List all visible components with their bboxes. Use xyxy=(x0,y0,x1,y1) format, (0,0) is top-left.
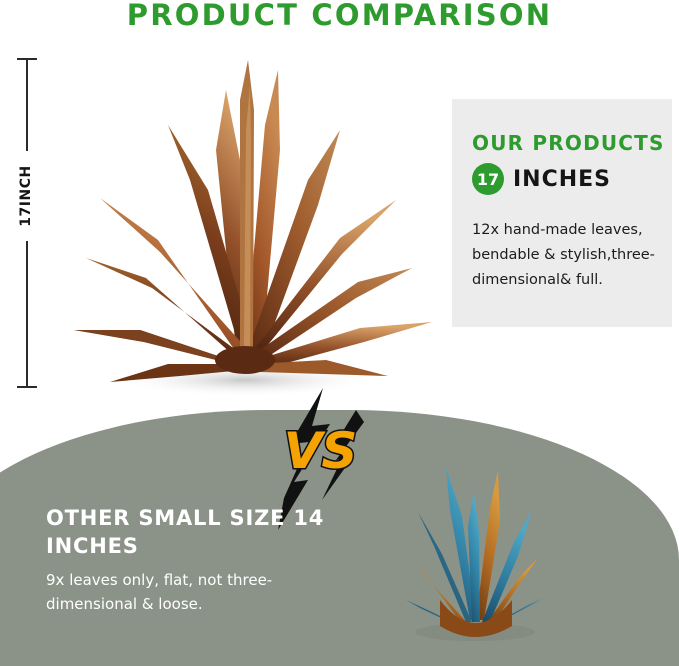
our-products-card: OUR PRODUCTS 17 INCHES 12x hand-made lea… xyxy=(452,99,672,327)
agave-small-illustration xyxy=(380,450,570,650)
agave-large-illustration xyxy=(40,30,460,405)
vs-label: VS xyxy=(260,422,380,480)
product-comparison-image: PRODUCT COMPARISON 17INCH xyxy=(0,0,679,666)
our-products-description: 12x hand-made leaves, bendable & stylish… xyxy=(472,218,664,293)
size-badge-number: 17 xyxy=(472,163,504,195)
other-product-description: 9x leaves only, flat, not three-dimensio… xyxy=(46,568,316,616)
page-title: PRODUCT COMPARISON xyxy=(0,0,679,32)
our-products-heading: OUR PRODUCTS xyxy=(472,131,665,155)
measure-label: 17INCH xyxy=(16,151,36,241)
main-product-image xyxy=(40,30,460,405)
height-measurement: 17INCH xyxy=(14,58,40,388)
measure-cap-bottom xyxy=(17,386,37,388)
competitor-product-image xyxy=(380,450,570,650)
other-product-title: OTHER SMALL SIZE 14 INCHES xyxy=(46,504,346,560)
size-badge-unit: INCHES xyxy=(513,167,611,192)
size-badge-row: 17 INCHES xyxy=(472,163,611,195)
